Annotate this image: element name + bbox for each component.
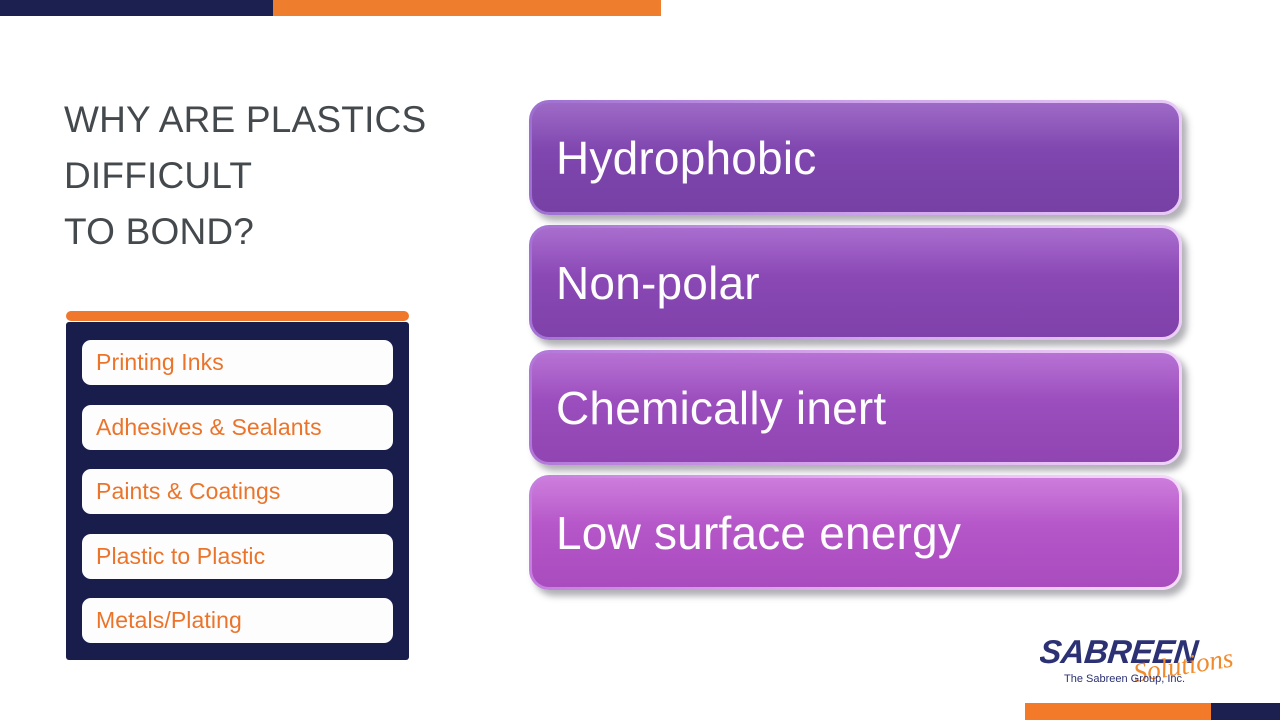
applications-panel: Printing Inks Adhesives & Sealants Paint… (66, 311, 409, 660)
list-item[interactable]: Paints & Coatings (82, 469, 393, 514)
reason-box-inner: Chemically inert (532, 353, 1179, 462)
reason-box-inner: Non-polar (532, 228, 1179, 337)
reason-box-inner: Hydrophobic (532, 103, 1179, 212)
sabreen-logo: SABREEN Solutions The Sabreen Group, Inc… (1040, 630, 1270, 692)
reason-box-inner: Low surface energy (532, 478, 1179, 587)
applications-list: Printing Inks Adhesives & Sealants Paint… (66, 322, 409, 660)
bottom-accent-bar-orange (1025, 703, 1211, 720)
logo-tagline: The Sabreen Group, Inc. (1064, 673, 1185, 685)
reason-label: Hydrophobic (556, 135, 816, 181)
top-accent-bar-navy (0, 0, 273, 16)
list-item[interactable]: Adhesives & Sealants (82, 405, 393, 450)
list-item[interactable]: Metals/Plating (82, 598, 393, 643)
reason-label: Chemically inert (556, 385, 886, 431)
top-accent-bar-orange (273, 0, 661, 16)
reason-label: Non-polar (556, 260, 760, 306)
bottom-accent-bar-navy (1211, 703, 1280, 720)
reason-box-chemically-inert[interactable]: Chemically inert (529, 350, 1182, 465)
list-item[interactable]: Printing Inks (82, 340, 393, 385)
reason-box-low-surface-energy[interactable]: Low surface energy (529, 475, 1182, 590)
reason-box-hydrophobic[interactable]: Hydrophobic (529, 100, 1182, 215)
reason-box-non-polar[interactable]: Non-polar (529, 225, 1182, 340)
list-item[interactable]: Plastic to Plastic (82, 534, 393, 579)
reason-label: Low surface energy (556, 510, 961, 556)
sabreen-logo-graphic: SABREEN Solutions The Sabreen Group, Inc… (1040, 630, 1270, 692)
applications-panel-accent-bar (66, 311, 409, 321)
page-title: WHY ARE PLASTICS DIFFICULT TO BOND? (64, 92, 494, 260)
reasons-list: Hydrophobic Non-polar Chemically inert L… (529, 100, 1182, 592)
